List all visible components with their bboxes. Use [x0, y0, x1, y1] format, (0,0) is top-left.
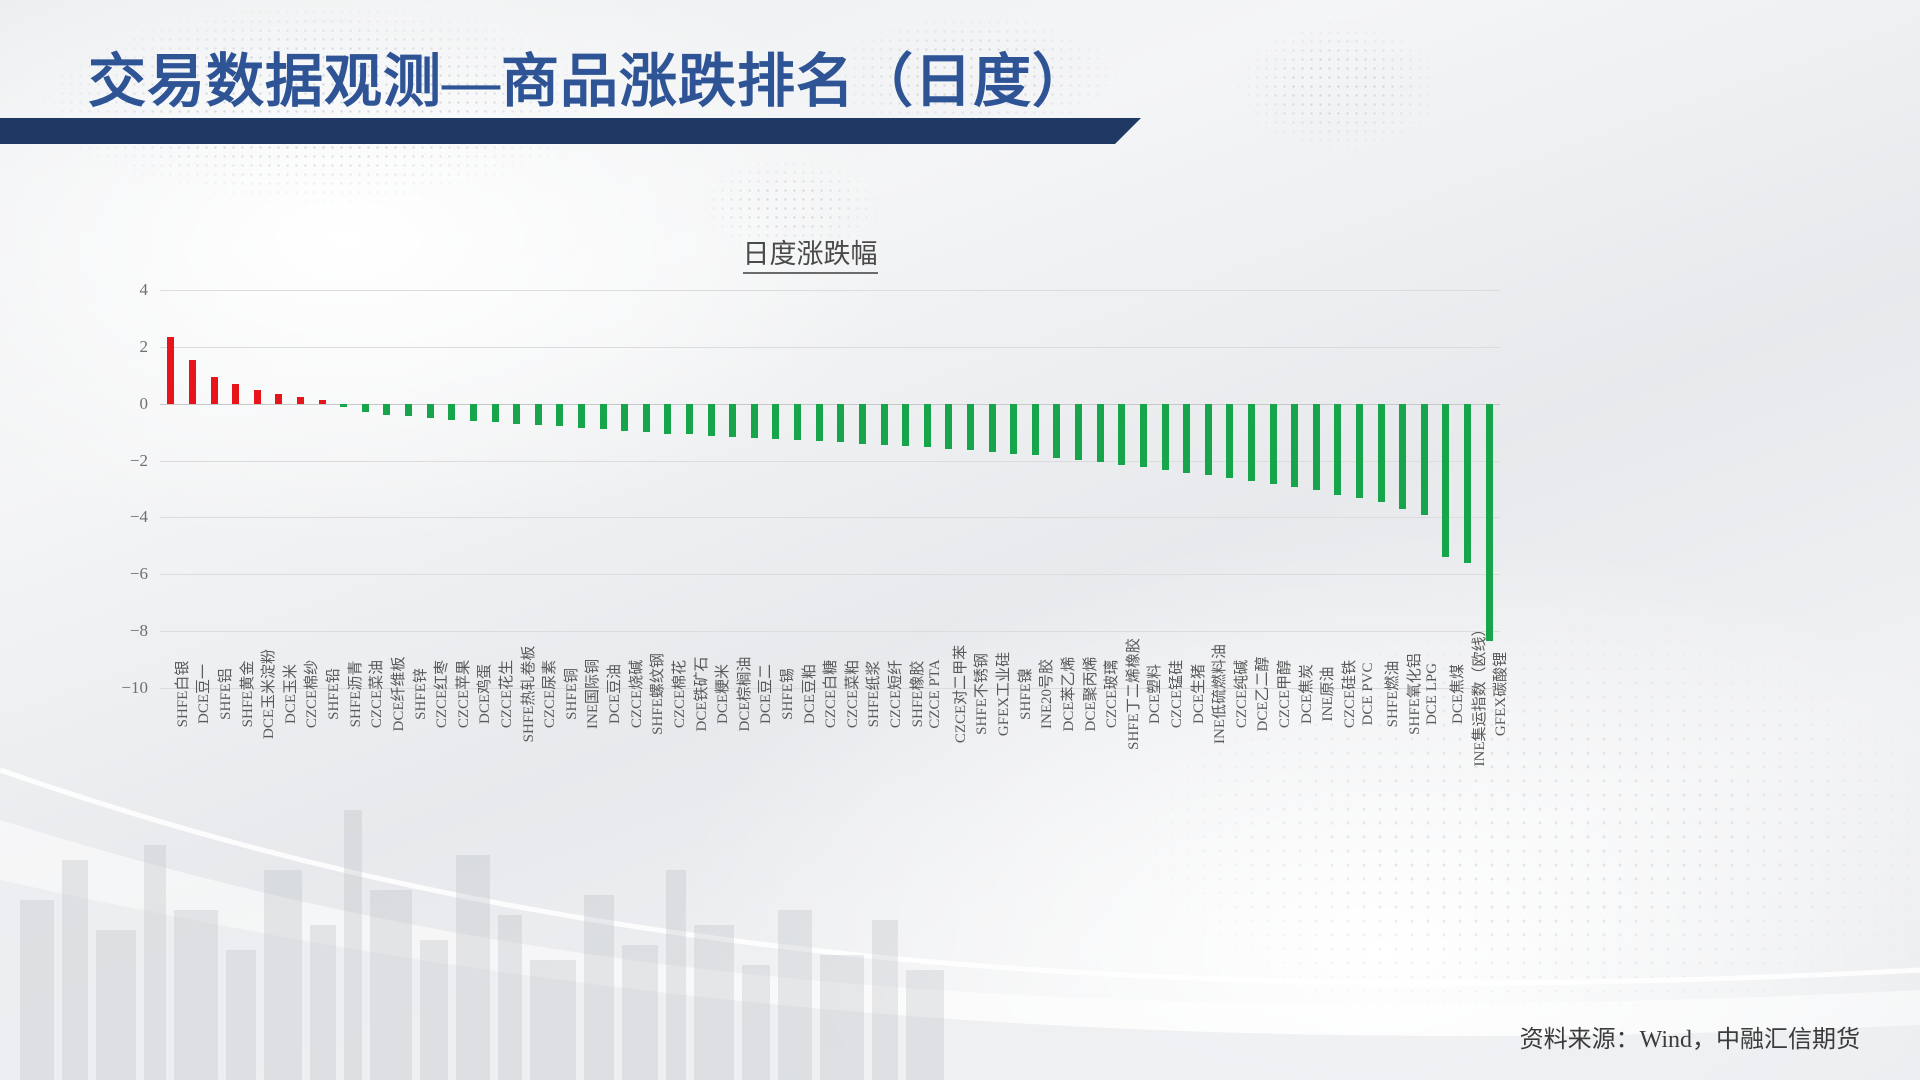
x-axis-tick-label: SHFE热轧卷板	[517, 646, 538, 743]
bar	[448, 404, 455, 420]
bar	[686, 404, 693, 435]
x-axis-tick-label: CZCE红枣	[430, 660, 451, 728]
bar	[1464, 404, 1471, 563]
page-title: 交易数据观测—商品涨跌排名（日度）	[88, 34, 1091, 118]
bar	[340, 404, 347, 407]
x-axis-tick-label: DCE焦煤	[1446, 664, 1467, 724]
bar	[1486, 404, 1493, 641]
x-axis-tick-label: SHFE不锈钢	[970, 653, 991, 735]
bar	[427, 404, 434, 419]
gridline	[160, 631, 1500, 632]
bar	[1313, 404, 1320, 491]
x-axis-tick-label: SHFE丁二烯橡胶	[1122, 638, 1143, 750]
y-axis-tick-label: 2	[140, 337, 149, 357]
x-axis-tick-label: DCE塑料	[1143, 664, 1164, 724]
x-axis-tick-label: CZCE棉花	[668, 660, 689, 728]
x-axis-tick-label: SHFE铝	[214, 668, 235, 720]
bar	[1118, 404, 1125, 465]
gridline	[160, 461, 1500, 462]
bar	[816, 404, 823, 442]
x-axis-tick-label: CZCE玻璃	[1100, 660, 1121, 728]
x-axis-tick-label: DCE豆油	[603, 664, 624, 724]
title-accent-bar	[0, 118, 1115, 144]
x-axis-tick-label: SHFE镍	[1014, 668, 1035, 720]
bar	[513, 404, 520, 424]
x-axis-tick-label: SHFE纸浆	[862, 661, 883, 728]
x-axis-tick-label: SHFE铅	[322, 668, 343, 720]
slide-canvas: 交易数据观测—商品涨跌排名（日度） 日度涨跌幅 420−2−4−6−8−10 S…	[0, 0, 1920, 1080]
x-axis-tick-label: SHFE黄金	[236, 661, 257, 728]
y-axis-tick-label: −2	[130, 451, 148, 471]
bar	[1270, 404, 1277, 484]
y-axis-tick-label: 0	[140, 394, 149, 414]
bar	[275, 394, 282, 404]
x-axis-tick-label: DCE豆一	[192, 664, 213, 724]
x-axis-tick-label: SHFE氧化铝	[1403, 653, 1424, 735]
bar	[1226, 404, 1233, 478]
bar	[1399, 404, 1406, 509]
x-axis-tick-label: DCE纤维板	[387, 656, 408, 731]
x-axis-tick-label: CZCE PTA	[927, 659, 944, 728]
bar	[232, 384, 239, 404]
bar	[1356, 404, 1363, 498]
bar	[600, 404, 607, 430]
chart-title: 日度涨跌幅	[110, 232, 1510, 271]
x-axis-tick-label: CZCE短纤	[884, 660, 905, 728]
bar	[297, 397, 304, 403]
bar	[1053, 404, 1060, 458]
bar	[492, 404, 499, 423]
x-axis-tick-label: DCE鸡蛋	[473, 664, 494, 724]
x-axis-tick-label: DCE棕榈油	[733, 656, 754, 731]
bar	[664, 404, 671, 434]
bar	[1010, 404, 1017, 454]
bar	[1248, 404, 1255, 481]
bar	[470, 404, 477, 422]
daily-change-bar-chart: 日度涨跌幅 420−2−4−6−8−10 SHFE白银DCE豆一SHFE铝SHF…	[110, 232, 1510, 792]
bar	[967, 404, 974, 451]
bar	[1334, 404, 1341, 495]
x-axis-tick-label: DCE豆二	[754, 664, 775, 724]
x-axis-tick-label: INE集运指数（欧线）	[1468, 622, 1489, 767]
bar	[794, 404, 801, 440]
bar	[1378, 404, 1385, 502]
gridline	[160, 290, 1500, 291]
y-axis-tick-label: −10	[121, 678, 148, 698]
x-axis-tick-label: DCE苯乙烯	[1057, 656, 1078, 731]
x-axis-tick-label: CZCE尿素	[538, 660, 559, 728]
bar	[772, 404, 779, 439]
bar	[405, 404, 412, 417]
bar	[578, 404, 585, 428]
x-axis-tick-label: CZCE苹果	[452, 660, 473, 728]
source-note: 资料来源：Wind，中融汇信期货	[1520, 1019, 1860, 1054]
y-axis-tick-label: −8	[130, 621, 148, 641]
bar	[945, 404, 952, 449]
bar	[211, 377, 218, 404]
x-axis-tick-label: SHFE橡胶	[906, 661, 927, 728]
x-axis-tick-label: SHFE铜	[560, 668, 581, 720]
bar	[902, 404, 909, 446]
x-axis-tick-label: CZCE菜粕	[841, 660, 862, 728]
x-axis-tick-label: DCE玉米	[279, 664, 300, 724]
world-map-dot-pattern	[1190, 10, 1520, 200]
bar	[1075, 404, 1082, 460]
x-axis-tick-label: CZCE对二甲苯	[949, 645, 970, 743]
x-axis-tick-label: CZCE纯碱	[1230, 660, 1251, 728]
bar	[189, 360, 196, 404]
gridline	[160, 574, 1500, 575]
x-axis-tick-label: SHFE螺纹钢	[646, 653, 667, 735]
bar	[383, 404, 390, 415]
bar	[1183, 404, 1190, 473]
x-axis-tick-label: DCE LPG	[1424, 663, 1441, 725]
bar	[924, 404, 931, 447]
bar	[881, 404, 888, 445]
bar	[1162, 404, 1169, 471]
y-axis-tick-label: −6	[130, 564, 148, 584]
x-axis-tick-label: SHFE锡	[776, 668, 797, 720]
bar	[1097, 404, 1104, 463]
bar	[751, 404, 758, 438]
bar	[254, 390, 261, 404]
x-axis-tick-label: INE低硫燃料油	[1208, 644, 1229, 744]
bar	[1140, 404, 1147, 467]
bar	[319, 400, 326, 404]
y-axis-tick-label: −4	[130, 507, 148, 527]
x-axis-tick-label: CZCE棉纱	[300, 660, 321, 728]
x-axis-tick-label: CZCE花生	[495, 660, 516, 728]
bar	[1442, 404, 1449, 558]
x-axis-tick-label: SHFE白银	[171, 661, 192, 728]
x-axis-tick-label: SHFE锌	[409, 668, 430, 720]
bar	[643, 404, 650, 432]
x-axis-tick-label: DCE玉米淀粉	[257, 649, 278, 739]
x-axis-tick-label: CZCE白糖	[819, 660, 840, 728]
x-axis-tick-label: SHFE燃油	[1381, 661, 1402, 728]
bar	[859, 404, 866, 444]
chart-title-text: 日度涨跌幅	[743, 239, 878, 274]
bar	[989, 404, 996, 452]
bar	[729, 404, 736, 437]
gridline	[160, 347, 1500, 348]
bar	[167, 337, 174, 404]
y-axis-tick-label: 4	[140, 280, 149, 300]
x-axis-tick-label: CZCE硅铁	[1338, 660, 1359, 728]
chart-x-axis-labels: SHFE白银DCE豆一SHFE铝SHFE黄金DCE玉米淀粉DCE玉米CZCE棉纱…	[160, 688, 1500, 968]
x-axis-tick-label: DCE铁矿石	[690, 656, 711, 731]
x-axis-tick-label: DCE乙二醇	[1251, 656, 1272, 731]
bar	[621, 404, 628, 431]
x-axis-tick-label: GFEX碳酸锂	[1489, 652, 1510, 736]
x-axis-tick-label: SHFE沥青	[344, 661, 365, 728]
x-axis-tick-label: INE原油	[1316, 667, 1337, 722]
x-axis-tick-label: DCE焦炭	[1295, 664, 1316, 724]
bar	[1421, 404, 1428, 515]
x-axis-tick-label: CZCE菜油	[365, 660, 386, 728]
bar	[1291, 404, 1298, 487]
x-axis-tick-label: DCE PVC	[1360, 663, 1377, 726]
bar	[535, 404, 542, 425]
bar	[837, 404, 844, 443]
x-axis-tick-label: CZCE烧碱	[625, 660, 646, 728]
x-axis-tick-label: CZCE锰硅	[1165, 660, 1186, 728]
bar	[1032, 404, 1039, 456]
x-axis-tick-label: INE国际铜	[581, 659, 602, 729]
x-axis-tick-label: INE20号胶	[1035, 659, 1056, 729]
gridline	[160, 517, 1500, 518]
bar	[708, 404, 715, 436]
x-axis-tick-label: CZCE甲醇	[1273, 660, 1294, 728]
x-axis-tick-label: DCE生猪	[1187, 664, 1208, 724]
x-axis-tick-label: GFEX工业硅	[992, 652, 1013, 736]
chart-plot-area: 420−2−4−6−8−10	[160, 290, 1500, 688]
x-axis-tick-label: DCE豆粕	[798, 664, 819, 724]
x-axis-tick-label: DCE粳米	[711, 664, 732, 724]
x-axis-tick-label: DCE聚丙烯	[1079, 656, 1100, 731]
bar	[556, 404, 563, 427]
bar	[1205, 404, 1212, 476]
bar	[362, 404, 369, 412]
